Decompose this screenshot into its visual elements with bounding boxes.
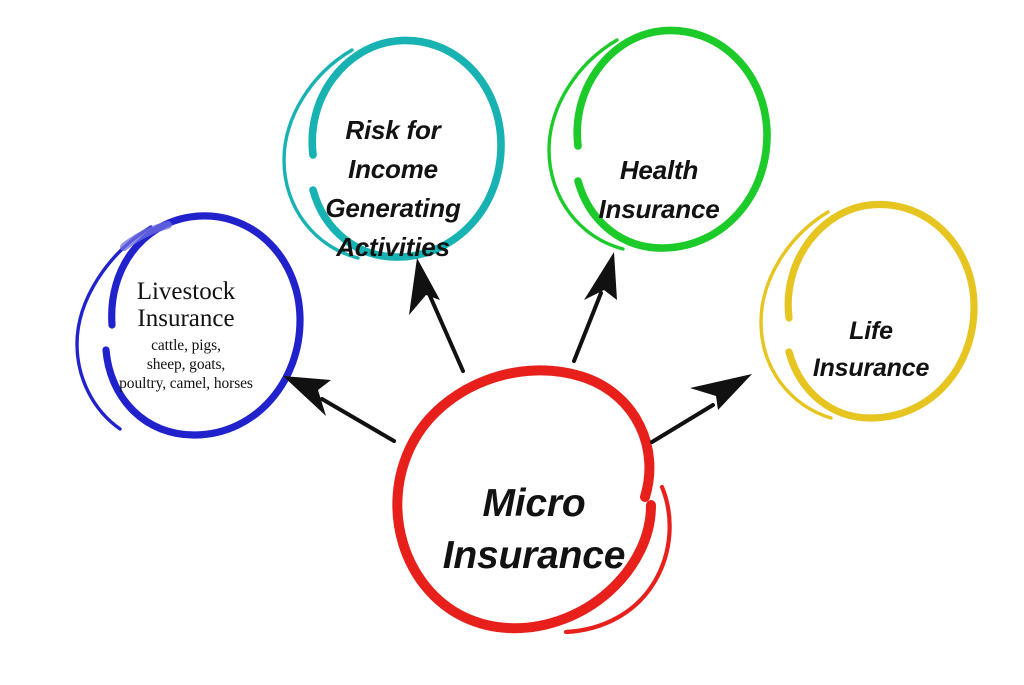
node-circle-micro-insurance[interactable] — [397, 370, 669, 632]
livestock-circle-main-arc — [106, 216, 300, 435]
life-circle-main-arc — [788, 204, 974, 418]
node-circle-life-insurance[interactable] — [761, 204, 974, 418]
risk-circle-main-arc — [312, 40, 501, 257]
micro-insurance-diagram: Livestock Insurance cattle, pigs, sheep,… — [0, 0, 1024, 685]
arrow-to-risk-shaft — [430, 296, 463, 371]
arrow-group — [283, 252, 752, 442]
arrow-to-livestock — [283, 376, 394, 441]
arrow-to-life-shaft — [652, 405, 713, 442]
risk-circle-outer-arc — [284, 50, 358, 258]
arrow-to-life — [652, 374, 752, 442]
life-circle-outer-arc — [761, 212, 831, 418]
micro-circle-main-arc — [397, 370, 651, 628]
health-circle-outer-arc — [549, 40, 623, 249]
arrow-to-health — [574, 252, 617, 361]
diagram-canvas — [0, 0, 1024, 685]
health-circle-main-arc — [577, 30, 767, 248]
arrow-to-livestock-head — [283, 376, 331, 416]
livestock-circle-outer-arc — [77, 227, 151, 429]
arrow-to-livestock-shaft — [322, 399, 394, 441]
node-circle-livestock-insurance[interactable] — [77, 216, 300, 435]
arrow-to-life-head — [690, 374, 752, 410]
node-circle-risk-income-generating-activities[interactable] — [284, 40, 501, 258]
arrow-to-risk — [409, 258, 463, 371]
node-circle-health-insurance[interactable] — [549, 30, 767, 249]
arrow-to-health-shaft — [574, 293, 601, 361]
